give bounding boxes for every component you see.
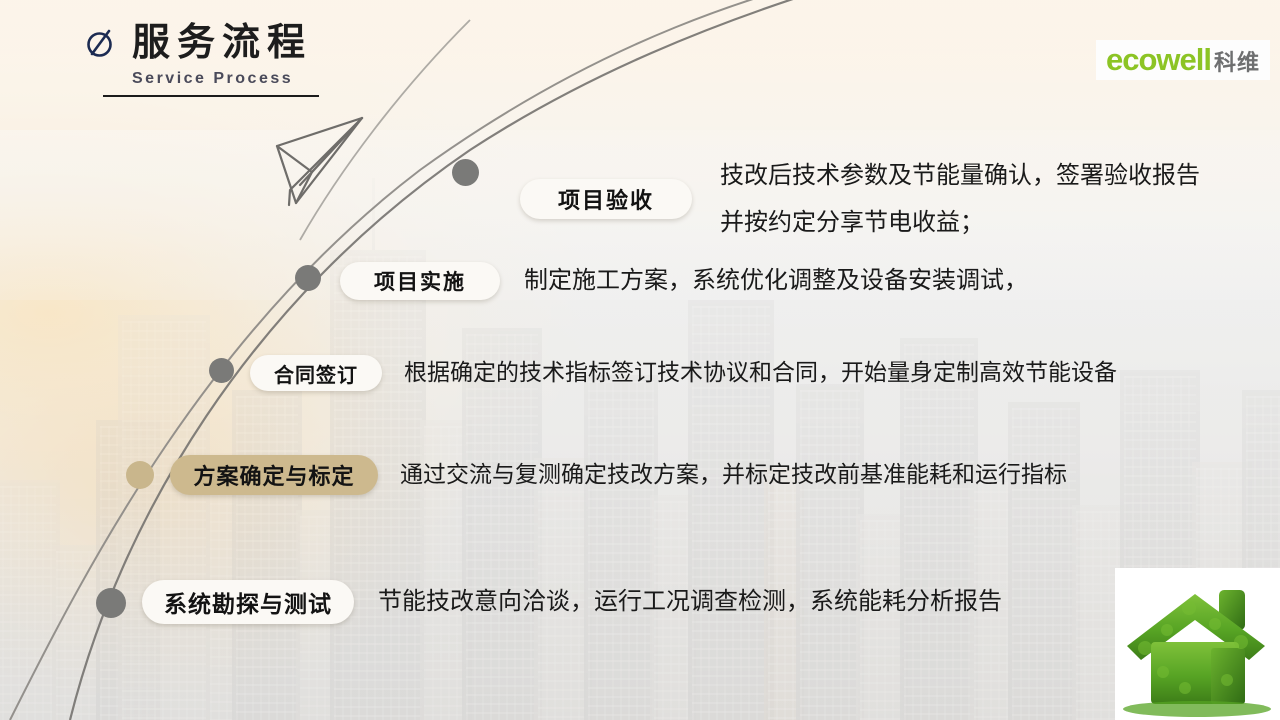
step-desc-1-line-1: 技改后技术参数及节能量确认，签署验收报告 (720, 157, 1200, 194)
step-desc-5: 节能技改意向洽谈，运行工况调查检测，系统能耗分析报告 (378, 583, 1002, 620)
step-row-2[interactable]: 项目实施 制定施工方案，系统优化调整及设备安装调试， (340, 262, 1028, 300)
step-label-pill-3[interactable]: 合同签订 (250, 355, 382, 391)
step-marker-dot-4 (126, 461, 154, 489)
page-title: 服务流程 (132, 24, 312, 62)
step-row-5[interactable]: 系统勘探与测试 节能技改意向洽谈，运行工况调查检测，系统能耗分析报告 (142, 580, 1002, 624)
step-marker-dot-2 (295, 265, 321, 291)
step-desc-4: 通过交流与复测确定技改方案，并标定技改前基准能耗和运行指标 (400, 457, 1067, 493)
step-row-4[interactable]: 方案确定与标定 通过交流与复测确定技改方案，并标定技改前基准能耗和运行指标 (170, 455, 1067, 495)
page-subtitle: Service Process (132, 70, 319, 88)
step-label-pill-4[interactable]: 方案确定与标定 (170, 455, 378, 495)
step-label-pill-5[interactable]: 系统勘探与测试 (142, 580, 354, 624)
header-divider (103, 95, 319, 97)
step-row-3[interactable]: 合同签订 根据确定的技术指标签订技术协议和合同，开始量身定制高效节能设备 (250, 355, 1117, 391)
step-row-1[interactable]: 项目验收 技改后技术参数及节能量确认，签署验收报告 并按约定分享节电收益； (520, 157, 1200, 241)
step-desc-3: 根据确定的技术指标签订技术协议和合同，开始量身定制高效节能设备 (404, 355, 1117, 391)
paper-plane-icon (277, 118, 362, 205)
page-header: 服务流程 Service Process (84, 24, 319, 97)
green-grass-house-icon (1115, 568, 1280, 720)
step-label-5: 系统勘探与测试 (164, 585, 332, 619)
brand-logo: ecowell 科维 (1096, 40, 1270, 80)
step-marker-dot-5 (96, 588, 126, 618)
step-label-4: 方案确定与标定 (193, 459, 354, 491)
step-desc-1-line-2: 并按约定分享节电收益； (720, 204, 1200, 241)
step-label-3: 合同签订 (274, 359, 358, 388)
step-desc-2: 制定施工方案，系统优化调整及设备安装调试， (524, 262, 1028, 299)
slide-canvas: 服务流程 Service Process ecowell 科维 项目验收 技改后… (0, 0, 1280, 720)
step-marker-dot-1 (452, 159, 479, 186)
step-marker-dot-3 (209, 358, 234, 383)
brand-logo-cn: 科维 (1214, 52, 1260, 74)
step-label-1: 项目验收 (558, 183, 654, 215)
step-label-pill-1[interactable]: 项目验收 (520, 179, 692, 219)
step-label-2: 项目实施 (374, 266, 466, 296)
circle-slash-icon (84, 26, 118, 60)
green-house-image (1115, 568, 1280, 720)
step-label-pill-2[interactable]: 项目实施 (340, 262, 500, 300)
brand-logo-en: ecowell (1106, 44, 1211, 75)
